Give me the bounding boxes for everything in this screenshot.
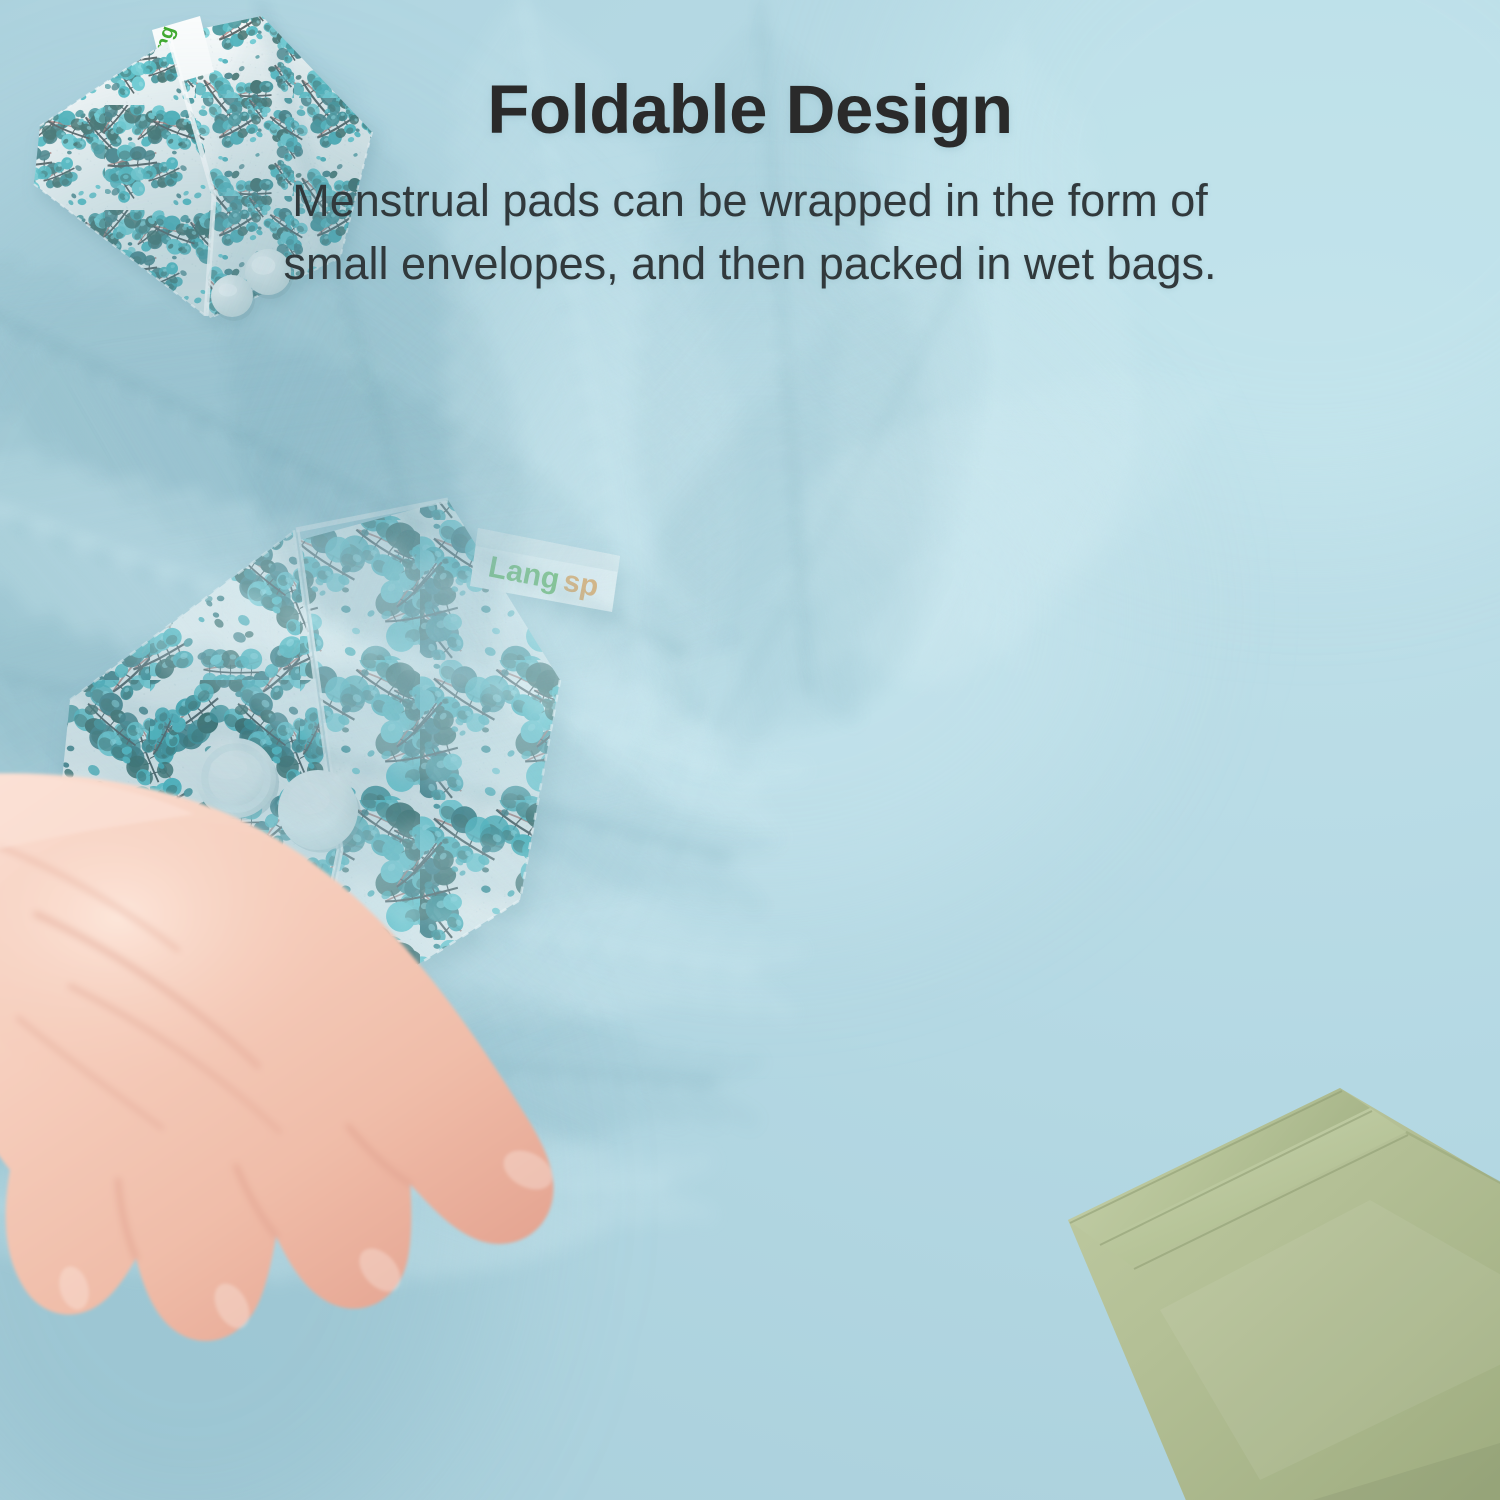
frond-leaflet	[660, 421, 788, 570]
frond-leaflet	[855, 565, 906, 654]
frond-leaflet	[786, 542, 879, 628]
frond-leaflet	[657, 676, 739, 721]
frond-leaflet	[635, 330, 781, 500]
frond-leaflet	[729, 573, 799, 652]
frond-leaflet	[784, 577, 830, 727]
frond-leaflet	[742, 664, 805, 735]
frond-leaflet	[804, 539, 916, 566]
frond-leaflet	[792, 633, 863, 699]
frond-leaflet	[717, 703, 748, 784]
frond-leaflet	[1083, 415, 1165, 575]
frond-leaflet	[1155, 385, 1218, 501]
frond-leaflet	[863, 443, 988, 551]
frond-leaflet	[728, 682, 760, 765]
frond-leaflet	[767, 319, 929, 396]
frond-leaflet	[885, 388, 942, 590]
frond-leaflet	[620, 613, 701, 681]
frond-rachis	[822, 376, 1242, 624]
frond-leaflet	[701, 382, 895, 472]
page-subtitle: Menstrual pads can be wrapped in the for…	[0, 170, 1500, 294]
frond-leaflet	[645, 550, 805, 626]
frond-leaflet	[906, 576, 978, 640]
frond-leaflet	[988, 284, 1142, 452]
frond-leaflet	[762, 619, 800, 731]
frond-leaflet	[616, 627, 670, 705]
frond-leaflet	[699, 512, 795, 622]
frond-leaflet	[771, 329, 937, 480]
frond-leaflet	[893, 525, 975, 684]
frond-leaflet	[904, 420, 1107, 456]
frond-leaflet	[842, 389, 991, 517]
frond-leaflet	[997, 455, 1096, 652]
frond-leaflet	[670, 424, 873, 518]
frond-leaflet	[684, 482, 792, 607]
frond-leaflet	[930, 411, 1124, 446]
frond-leaflet	[769, 298, 937, 452]
frond-leaflet	[735, 603, 800, 677]
frond-leaflet	[826, 283, 999, 431]
frond-leaflet	[978, 465, 1078, 665]
frond-leaflet	[874, 409, 932, 617]
frond-leaflet	[851, 451, 910, 662]
frond-leaflet	[809, 481, 1004, 516]
frond-leaflet	[840, 575, 888, 658]
frond-leaflet	[622, 612, 705, 638]
frond-leaflet	[1060, 425, 1148, 598]
frond-leaflet	[797, 562, 882, 586]
frond-leaflet	[945, 485, 1044, 683]
frond-leaflet	[903, 522, 982, 592]
frond-leaflet	[880, 429, 1090, 466]
frond-leaflet	[652, 644, 705, 721]
frond-leaflet	[971, 523, 1043, 600]
frond-leaflet	[905, 602, 976, 665]
frond-leaflet	[1022, 385, 1176, 416]
page-title: Foldable Design	[0, 74, 1500, 146]
frond-leaflet	[824, 585, 871, 666]
frond-leaflet	[852, 416, 990, 535]
frond-leaflet	[817, 470, 1021, 506]
frond-leaflet	[984, 337, 1131, 498]
frond-leaflet	[740, 661, 772, 746]
frond-leaflet	[713, 542, 796, 637]
frond-leaflet	[906, 549, 980, 614]
frond-leaflet	[729, 761, 810, 790]
frond-leaflet	[779, 450, 913, 573]
frond-leaflet	[671, 451, 790, 589]
frond-leaflet	[614, 579, 711, 659]
frond-leaflet	[959, 402, 1142, 436]
frond-leaflet	[773, 598, 815, 729]
frond-leaflet	[968, 576, 1034, 647]
frond-leaflet	[784, 511, 892, 610]
frond-rachis	[713, 238, 984, 737]
frond-leaflet	[788, 572, 865, 644]
frond-leaflet	[970, 550, 1037, 622]
frond-leaflet	[904, 515, 992, 687]
frond-leaflet	[631, 299, 779, 472]
frond-leaflet	[1090, 369, 1211, 396]
frond-leaflet	[807, 535, 859, 716]
frond-leaflet	[650, 466, 850, 558]
frond-leaflet	[807, 595, 853, 674]
frond-leaflet	[981, 390, 1114, 535]
hand-shape	[0, 773, 559, 1341]
frond-leaflet	[743, 340, 918, 422]
palm-frond-shadow	[764, 276, 1300, 724]
frond-leaflet	[751, 640, 785, 732]
frond-leaflet	[723, 965, 797, 1023]
frond-leaflet	[973, 497, 1059, 590]
frond-leaflet	[804, 492, 986, 526]
frond-leaflet	[795, 556, 844, 722]
frond-leaflet	[642, 360, 784, 525]
frond-leaflet	[828, 459, 1038, 496]
frond-leaflet	[794, 663, 863, 728]
frond-leaflet	[724, 777, 787, 848]
frond-leaflet	[975, 470, 1074, 578]
frond-leaflet	[979, 417, 1102, 551]
frond-leaflet	[864, 555, 923, 663]
frond-leaflet	[802, 527, 934, 556]
frond-leaflet	[859, 439, 1072, 476]
frond-leaflet	[658, 630, 739, 656]
frond-leaflet	[983, 364, 1124, 518]
feature-graphic-canvas: Foldable Design Menstrual pads can be wr…	[0, 0, 1500, 1500]
frond-leaflet	[739, 634, 803, 706]
frond-leaflet	[1038, 435, 1131, 618]
frond-leaflet	[875, 469, 985, 565]
frond-leaflet	[671, 634, 761, 682]
frond-leaflet	[966, 603, 1031, 672]
frond-leaflet	[777, 420, 922, 553]
frond-leaflet	[801, 504, 969, 536]
frond-leaflet	[977, 443, 1088, 564]
frond-leaflet	[659, 445, 862, 539]
frond-leaflet	[643, 529, 817, 611]
frond-leaflet	[826, 310, 996, 456]
frond-leaflet	[961, 475, 1061, 676]
hand-illustration	[0, 718, 720, 1498]
frond-leaflet	[930, 495, 1026, 687]
frond-leaflet	[889, 496, 984, 579]
frond-leaflet	[650, 571, 795, 641]
frond-leaflet	[1017, 445, 1113, 637]
frond-leaflet	[663, 613, 772, 669]
frond-leaflet	[656, 592, 783, 655]
frond-leaflet	[1106, 405, 1182, 551]
frond-leaflet	[626, 646, 701, 709]
frond-leaflet	[608, 545, 721, 638]
frond-leaflet	[818, 514, 873, 707]
wet-bag	[1040, 1060, 1500, 1500]
frond-leaflet	[842, 449, 1055, 486]
frond-leaflet	[1056, 377, 1194, 406]
frond-leaflet	[766, 583, 847, 606]
frond-leaflet	[896, 367, 951, 560]
frond-leaflet	[863, 430, 922, 641]
frond-leaflet	[603, 511, 730, 615]
frond-leaflet	[650, 390, 786, 548]
brand-tag-text-accent: sp	[561, 564, 602, 603]
frond-leaflet	[773, 359, 934, 506]
frond-leaflet	[781, 481, 902, 592]
frond-leaflet	[941, 282, 984, 419]
frond-leaflet	[808, 552, 900, 576]
frond-leaflet	[629, 269, 777, 442]
frond-leaflet	[782, 572, 865, 595]
frond-leaflet	[775, 390, 929, 531]
frond-leaflet	[829, 493, 886, 695]
frond-leaflet	[666, 655, 749, 700]
frond-leaflet	[918, 324, 968, 492]
frond-leaflet	[917, 505, 1010, 688]
frond-leaflet	[990, 393, 1159, 426]
frond-leaflet	[1130, 395, 1199, 526]
frond-leaflet	[986, 310, 1137, 476]
frond-leaflet	[684, 403, 884, 495]
frond-leaflet	[792, 298, 940, 369]
frond-leaflet	[725, 941, 806, 979]
frond-leaflet	[907, 345, 960, 526]
frond-leaflet	[642, 508, 827, 595]
frond-leaflet	[790, 603, 862, 670]
frond-leaflet	[801, 515, 952, 546]
frond-leaflet	[645, 487, 839, 577]
frond-leaflet	[829, 336, 994, 478]
frond-leaflet	[835, 363, 993, 499]
frond-leaflet	[840, 472, 898, 680]
frond-leaflet	[883, 535, 958, 678]
text-block: Foldable Design Menstrual pads can be wr…	[0, 0, 1500, 295]
frond-leaflet	[873, 545, 940, 671]
frond-leaflet	[721, 361, 906, 448]
frond-leaflet	[930, 303, 977, 456]
